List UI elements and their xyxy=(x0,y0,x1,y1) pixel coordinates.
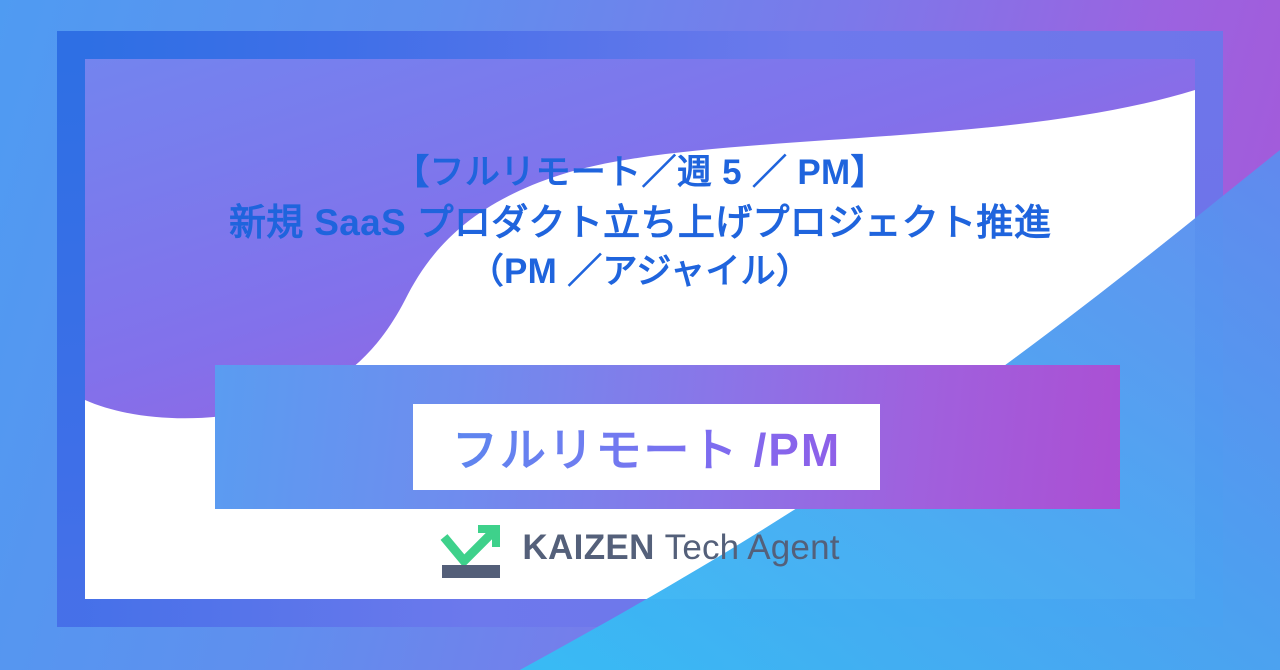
highlight-chip-label: フルリモート /PM xyxy=(452,414,841,480)
title-line-1: 【フルリモート／週 5 ／ PM】 xyxy=(85,149,1195,197)
brand-name-bold: KAIZEN xyxy=(522,528,654,567)
title-line-3: （PM ／アジャイル） xyxy=(85,248,1195,296)
title-line-2: 新規 SaaS プロダクト立ち上げプロジェクト推進 xyxy=(85,197,1195,248)
content-area: 【フルリモート／週 5 ／ PM】 新規 SaaS プロダクト立ち上げプロジェク… xyxy=(85,59,1195,599)
brand-logo-text: KAIZEN Tech Agent xyxy=(522,528,839,568)
growth-arrow-icon xyxy=(440,517,508,579)
highlight-banner: フルリモート /PM xyxy=(215,365,1120,509)
brand-logo: KAIZEN Tech Agent xyxy=(85,517,1195,579)
banner-canvas: 【フルリモート／週 5 ／ PM】 新規 SaaS プロダクト立ち上げプロジェク… xyxy=(0,0,1280,670)
highlight-chip: フルリモート /PM xyxy=(413,404,880,490)
page-title: 【フルリモート／週 5 ／ PM】 新規 SaaS プロダクト立ち上げプロジェク… xyxy=(85,149,1195,297)
brand-name-regular: Tech Agent xyxy=(665,528,840,567)
